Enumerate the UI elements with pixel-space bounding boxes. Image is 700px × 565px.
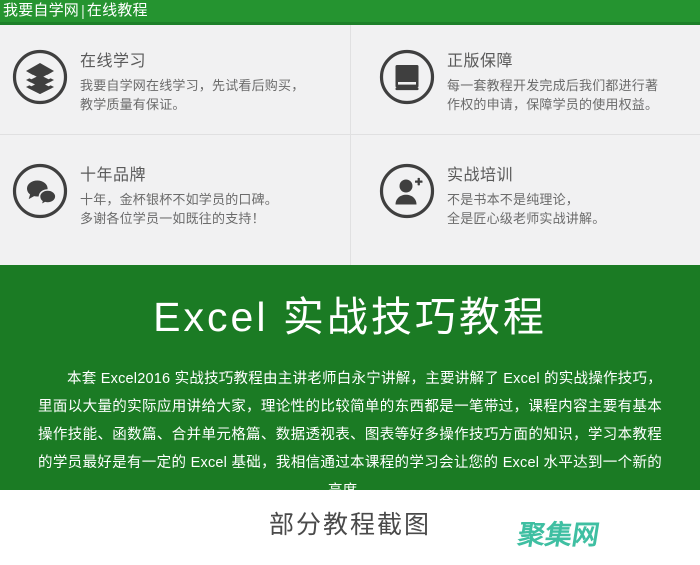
site-name-link[interactable]: 我要自学网	[3, 0, 79, 22]
user-plus-icon	[379, 163, 435, 219]
feature-highlights-grid: 在线学习 我要自学网在线学习，先试看后购买， 教学质量有保证。 正版保障 每一套…	[0, 25, 700, 265]
feature-card-copyright-guarantee: 正版保障 每一套教程开发完成后我们都进行著 作权的申请，保障学员的使用权益。	[350, 25, 700, 134]
feature-card-ten-year-brand: 十年品牌 十年，金杯银杯不如学员的口碑。 多谢各位学员一如既往的支持！	[0, 134, 350, 265]
feature-card-online-learning: 在线学习 我要自学网在线学习，先试看后购买， 教学质量有保证。	[0, 25, 350, 134]
feature-card-text: 正版保障 每一套教程开发完成后我们都进行著 作权的申请，保障学员的使用权益。	[447, 49, 658, 114]
feature-card-text: 实战培训 不是书本不是纯理论， 全是匠心级老师实战讲解。	[447, 163, 605, 228]
course-title: Excel 实战技巧教程	[38, 291, 662, 343]
feature-title: 正版保障	[447, 51, 658, 73]
breadcrumb-separator: |	[79, 3, 87, 20]
top-navigation-bar: 我要自学网 | 在线教程	[0, 0, 700, 25]
feature-description: 十年，金杯银杯不如学员的口碑。 多谢各位学员一如既往的支持！	[80, 190, 278, 228]
book-icon	[379, 49, 435, 105]
course-description: 本套 Excel2016 实战技巧教程由主讲老师白永宁讲解，主要讲解了 Exce…	[38, 365, 662, 505]
feature-card-practical-training: 实战培训 不是书本不是纯理论， 全是匠心级老师实战讲解。	[350, 134, 700, 265]
chat-bubbles-icon	[12, 163, 68, 219]
feature-card-text: 在线学习 我要自学网在线学习，先试看后购买， 教学质量有保证。	[80, 49, 304, 114]
feature-description: 每一套教程开发完成后我们都进行著 作权的申请，保障学员的使用权益。	[447, 76, 658, 114]
section-title[interactable]: 在线教程	[87, 0, 148, 22]
feature-title: 十年品牌	[80, 165, 278, 187]
feature-card-text: 十年品牌 十年，金杯银杯不如学员的口碑。 多谢各位学员一如既往的支持！	[80, 163, 278, 228]
feature-description: 我要自学网在线学习，先试看后购买， 教学质量有保证。	[80, 76, 304, 114]
site-watermark-logo: 聚集网	[515, 519, 601, 553]
course-promo-banner: Excel 实战技巧教程 本套 Excel2016 实战技巧教程由主讲老师白永宁…	[0, 265, 700, 490]
feature-description: 不是书本不是纯理论， 全是匠心级老师实战讲解。	[447, 190, 605, 228]
feature-title: 实战培训	[447, 165, 605, 187]
layers-icon	[12, 49, 68, 105]
feature-title: 在线学习	[80, 51, 304, 73]
